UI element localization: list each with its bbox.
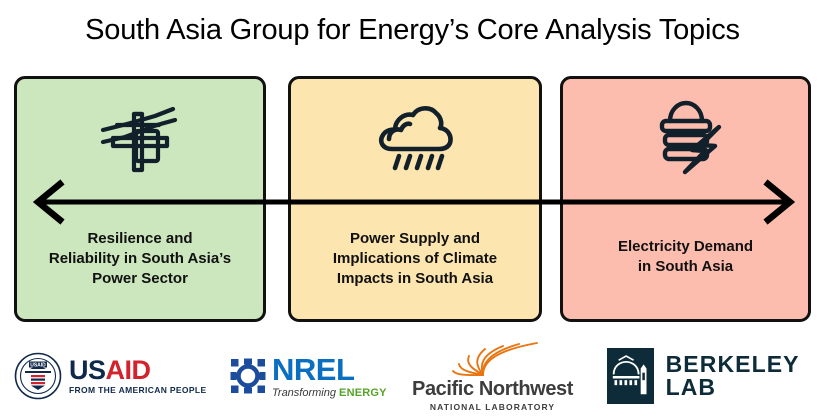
topic-panels-row: Resilience and Reliability in South Asia… — [0, 76, 825, 324]
lightbulb-lightning-icon — [563, 91, 808, 183]
pnnl-tagline: NATIONAL LABORATORY — [430, 402, 555, 412]
partner-logos-row: USAID USAID FROM THE AMERICAN PEOPLE — [0, 334, 825, 418]
nrel-tagline-transforming: Transforming — [272, 387, 339, 399]
nrel-tagline-energy: ENERGY — [339, 387, 387, 399]
pnnl-wordmark: Pacific Northwest — [412, 379, 573, 399]
berkeley-lab-building-icon — [607, 348, 654, 404]
nrel-wordmark: NREL — [272, 354, 387, 385]
usaid-seal-icon: USAID — [14, 352, 62, 400]
usaid-tagline: FROM THE AMERICAN PEOPLE — [69, 386, 206, 395]
usaid-word-us: US — [69, 355, 106, 385]
berkeley-lab-logo: BERKELEY LAB — [607, 334, 825, 418]
nrel-logo: NREL Transforming ENERGY — [230, 334, 387, 418]
topic-panel-electricity-demand[interactable]: Electricity Demand in South Asia — [560, 76, 811, 322]
topic-panel-resilience-reliability[interactable]: Resilience and Reliability in South Asia… — [14, 76, 266, 322]
usaid-word-aid: AID — [106, 355, 151, 385]
topic-panel-label: Resilience and Reliability in South Asia… — [17, 229, 263, 289]
utility-pole-icon — [17, 91, 263, 183]
usaid-logo: USAID USAID FROM THE AMERICAN PEOPLE — [14, 334, 206, 418]
page-title: South Asia Group for Energy’s Core Analy… — [0, 14, 825, 47]
topic-panel-power-supply-climate[interactable]: Power Supply and Implications of Climate… — [288, 76, 542, 322]
nrel-mark-icon — [230, 358, 266, 394]
topic-panel-label: Electricity Demand in South Asia — [563, 237, 808, 277]
pnnl-swoosh-icon — [433, 341, 553, 377]
rain-cloud-icon — [291, 91, 539, 183]
usaid-seal-text: USAID — [30, 362, 46, 368]
berkeley-lab-wordmark: BERKELEY LAB — [666, 353, 825, 399]
topic-panel-label: Power Supply and Implications of Climate… — [291, 229, 539, 289]
pacific-northwest-national-laboratory-logo: Pacific Northwest NATIONAL LABORATORY — [412, 334, 573, 418]
